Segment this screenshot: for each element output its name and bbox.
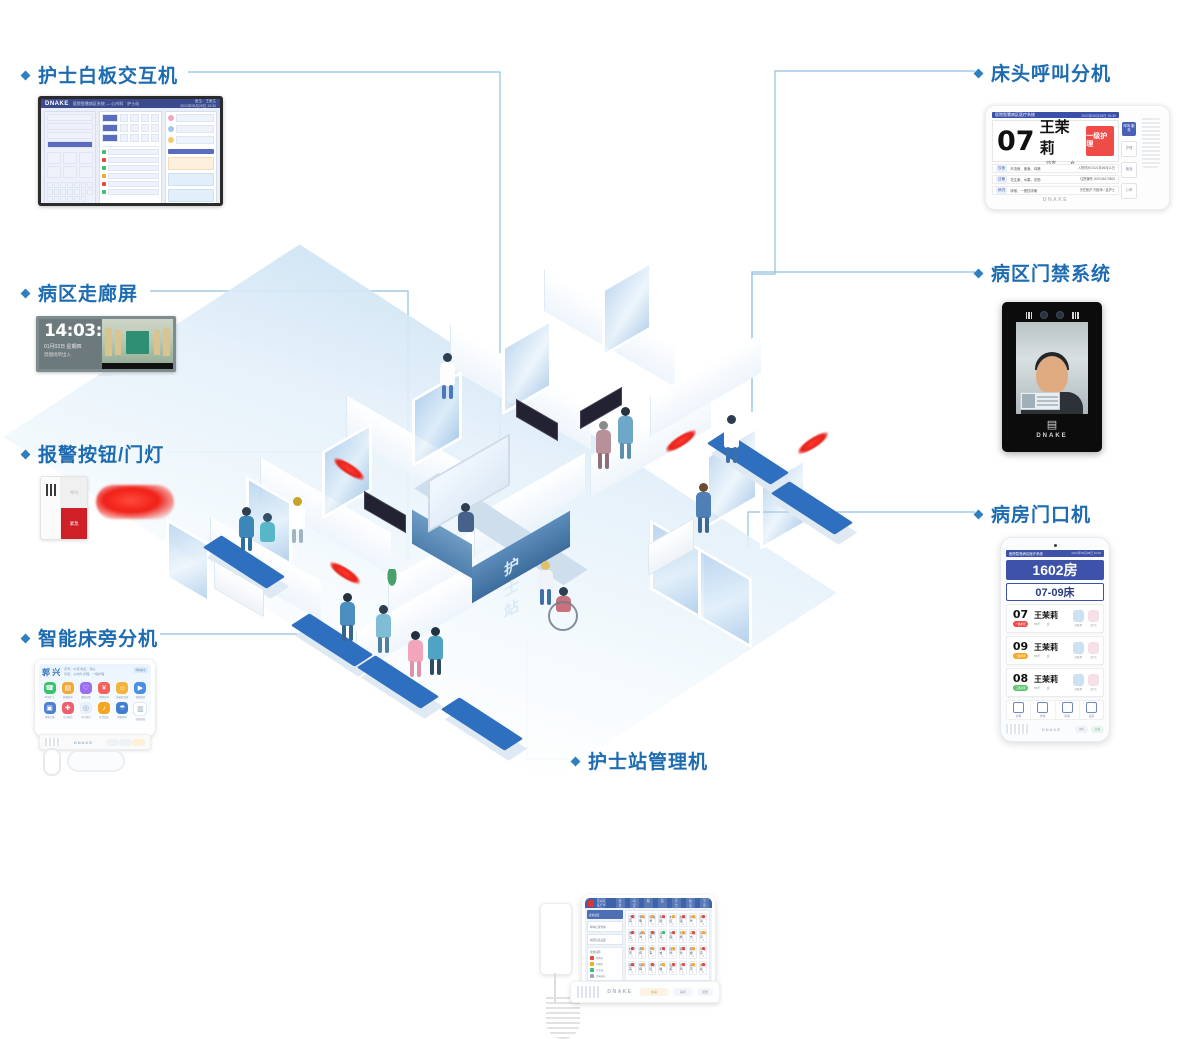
- nsm-legend-label: 呼叫中: [596, 956, 603, 960]
- bedside-app[interactable]: ☎呼叫护士: [42, 682, 57, 699]
- roomdoor-tab-care[interactable]: 护理: [1007, 701, 1031, 719]
- nsm-bed-cell[interactable]: 马俊杰15: [689, 929, 697, 943]
- roomdoor-system-title: 医院智慧病区医疗系统: [1009, 551, 1043, 556]
- nsm-bed-no: 21: [671, 956, 673, 958]
- nsm-bed-no: 25: [631, 972, 633, 974]
- bedside-app[interactable]: ▥住院须知: [133, 702, 148, 721]
- billing-icon: ¥: [98, 682, 110, 694]
- nsm-status-dot: [702, 947, 705, 950]
- bullet-diamond-icon: [974, 268, 984, 278]
- callext-side-button-infusion[interactable]: 输液: [1121, 162, 1137, 178]
- nsm-status-dot: [631, 947, 634, 950]
- nsm-status-dot: [702, 931, 705, 934]
- roomdoor-nurse-name: 王护士: [1090, 687, 1097, 691]
- bedside-header-tag: 呼叫护士: [134, 667, 148, 673]
- roomdoor-tab-label: 检查: [1040, 714, 1045, 718]
- nsm-status-dot: [662, 931, 665, 934]
- nsm-bed-no: 15: [692, 940, 694, 942]
- nsm-bed-cell[interactable]: 李伟明02: [638, 913, 646, 927]
- nsm-bed-cell[interactable]: 高明月16: [699, 929, 707, 943]
- nsm-bed-cell[interactable]: 唐振华21: [669, 945, 677, 959]
- bedside-key-highlight[interactable]: ·: [132, 739, 145, 746]
- roomdoor-care-level: 三级护理: [1013, 685, 1027, 691]
- nsm-side-beds[interactable]: 床位总览: [587, 910, 623, 919]
- nsm-bed-no: 07: [692, 924, 694, 926]
- roomdoor-doctor-name: 刘医师: [1075, 655, 1082, 659]
- device-nurse-whiteboard[interactable]: DNAKE 医院智慧病区系统 — 心内科 护士站 医生：王医生 2021年05月…: [38, 96, 223, 206]
- bedside-app[interactable]: ✚生活服务: [60, 702, 75, 721]
- isometric-ward-scene: 护士站: [150, 245, 910, 805]
- roomdoor-bed-no: 08: [1013, 673, 1028, 684]
- care-icon: [1013, 702, 1024, 713]
- nsm-bed-cell[interactable]: 王建军11: [648, 929, 656, 943]
- whiteboard-brand: DNAKE: [45, 101, 69, 107]
- bedside-app[interactable]: ▤医嘱查询: [60, 682, 75, 699]
- callout-nurse-station-manager[interactable]: 护士站管理机: [572, 747, 708, 774]
- orders-icon: [1062, 702, 1073, 713]
- nsm-legend-label: 空闲床位: [596, 974, 606, 978]
- device-alarm-button[interactable]: · 呼叫 紧急: [40, 476, 88, 540]
- nsm-bed-no: 26: [641, 972, 643, 974]
- roomdoor-tab-label: 设置: [1089, 714, 1094, 718]
- callext-extra-label: 住院编号: [1080, 177, 1093, 181]
- callext-extra-value: 2021年06月11日: [1091, 166, 1115, 170]
- roomdoor-unlock-pill[interactable]: 开锁: [1091, 726, 1104, 733]
- nsm-bed-no: 18: [641, 956, 643, 958]
- nsm-bed-cell[interactable]: 王茉莉01: [628, 913, 636, 927]
- roomdoor-nurse: 王护士: [1087, 642, 1100, 659]
- bullet-diamond-icon: [974, 509, 984, 519]
- roomdoor-tab-label: 医嘱: [1065, 714, 1070, 718]
- nsm-status-dot: [631, 931, 634, 934]
- callout-label: 智能床旁分机: [38, 624, 158, 651]
- nsm-status-dot: [702, 915, 705, 918]
- gear-icon: [1086, 702, 1097, 713]
- bedside-app[interactable]: ▶视频通话: [133, 682, 148, 699]
- nsm-bed-no: 06: [681, 924, 683, 926]
- roomdoor-bed-row[interactable]: 09 二级护理 王茉莉 15岁 女 刘医师 王护士: [1006, 636, 1104, 665]
- callout-alarm-button-door-lamp[interactable]: 报警按钮/门灯: [22, 440, 164, 467]
- corridor-video-feed: [102, 319, 173, 369]
- nsm-bed-cell[interactable]: 何丽娟14: [679, 929, 687, 943]
- roomdoor-bed-row[interactable]: 07 一级护理 王茉莉 15岁 女 刘医师 王护士: [1006, 604, 1104, 633]
- callext-extra-value: 刘医师 / 孟护士: [1093, 188, 1115, 192]
- bedside-app-label: 住院须知: [136, 717, 146, 721]
- bedside-app-label: 医嘱查询: [63, 695, 73, 699]
- roomdoor-care-level: 二级护理: [1013, 653, 1027, 659]
- callext-side-button-call[interactable]: 呼叫 服务: [1122, 122, 1136, 136]
- visit-booking-icon: ☂: [116, 702, 128, 714]
- callout-label: 护士站管理机: [588, 747, 708, 774]
- video-call-icon: ▶: [134, 682, 146, 694]
- bullet-diamond-icon: [21, 288, 31, 298]
- nsm-legend-title: 状态说明: [590, 950, 620, 954]
- nsm-bed-cell[interactable]: 吴秀兰09: [628, 929, 636, 943]
- roomdoor-bed-no: 09: [1013, 641, 1028, 652]
- callout-smart-bedside-unit[interactable]: 智能床旁分机: [22, 624, 158, 651]
- whiteboard-module: 护士站: [127, 101, 139, 107]
- bedside-app-grid: ☎呼叫护士 ▤医嘱查询 ♡健康宣教 ¥费用查询 ☺满意度调查 ▶视频通话 ▣智能…: [42, 682, 148, 721]
- nsm-bed-no: 04: [661, 924, 663, 926]
- roomdoor-tab-orders[interactable]: 医嘱: [1056, 701, 1080, 719]
- nsm-bed-no: 22: [681, 956, 683, 958]
- roomdoor-doctor-name: 刘医师: [1075, 687, 1082, 691]
- roomdoor-gender: 女: [1047, 654, 1050, 658]
- callext-extra-value: 202106272800: [1094, 177, 1115, 181]
- nsm-status-dot: [692, 915, 695, 918]
- nsm-brand: DNAKE: [607, 989, 632, 995]
- callext-extra-label: 责任医护: [1080, 188, 1093, 192]
- corridor-date: 01月03日 星期四: [44, 343, 97, 350]
- nurse-station-handset[interactable]: [540, 903, 572, 975]
- entertainment-icon: ♪: [98, 702, 110, 714]
- nsm-bed-cell[interactable]: 林芳芳17: [628, 945, 636, 959]
- nsm-legend-label: 已完成: [596, 968, 603, 972]
- bedside-app[interactable]: ☺满意度调查: [115, 682, 130, 699]
- nsm-side-call-log[interactable]: 呼叫记录查询: [587, 921, 623, 932]
- nsm-bed-cell[interactable]: 冯晓燕12: [658, 929, 666, 943]
- alarm-emergency-button[interactable]: 紧急: [61, 508, 87, 539]
- callext-bed-no: 07: [997, 128, 1035, 155]
- card-swipe-icon: ▤: [1047, 420, 1057, 431]
- nsm-key-handsfree[interactable]: 免提: [639, 988, 669, 996]
- callext-row-tag: 病况: [996, 187, 1007, 194]
- nsm-key-hangup[interactable]: 挂断: [697, 988, 713, 996]
- bedside-app[interactable]: ☂探视预约: [115, 702, 130, 721]
- roomdoor-mic-grille-icon: [1006, 724, 1028, 734]
- roomdoor-age: 15岁: [1034, 654, 1040, 658]
- nsm-title-1: 医院智慧病区: [597, 895, 606, 903]
- roomdoor-room-number: 1602房: [1006, 560, 1104, 580]
- callext-care-level: 一级护理: [1086, 126, 1114, 156]
- alarm-vent-icon: [46, 484, 56, 496]
- nsm-bed-no: 31: [692, 972, 694, 974]
- roomdoor-nurse-name: 王护士: [1090, 655, 1097, 659]
- bedside-mic-grille-icon: [45, 738, 61, 746]
- notice-icon: ▥: [133, 702, 147, 716]
- bedside-app[interactable]: ▣智能点餐: [42, 702, 57, 721]
- nsm-status-dot: [631, 963, 634, 966]
- face-recognition-preview: [1016, 322, 1088, 414]
- callext-row-tag: 饮食: [996, 165, 1007, 172]
- nsm-status-dot: [682, 931, 685, 934]
- device-door-lamp: [96, 485, 174, 519]
- nsm-bed-cell[interactable]: 张雅琴03: [648, 913, 656, 927]
- nsm-bed-cell[interactable]: 韩美玲22: [679, 945, 687, 959]
- callout-label: 病区走廊屏: [38, 279, 138, 306]
- roomdoor-tab-exam[interactable]: 检查: [1031, 701, 1055, 719]
- nsm-bed-cell[interactable]: 周文涛08: [699, 913, 707, 927]
- bullet-diamond-icon: [21, 70, 31, 80]
- nsm-key-mute[interactable]: 静音: [673, 988, 693, 996]
- bedside-stand: [67, 750, 125, 772]
- bedside-key[interactable]: ·: [106, 739, 119, 746]
- bedside-app-label: 生活服务: [63, 715, 73, 719]
- bedside-greeting: 郭 兴: [42, 667, 60, 678]
- nsm-status-dot: [641, 947, 644, 950]
- roomdoor-nurse: 王护士: [1087, 610, 1100, 627]
- nsm-bed-no: 12: [661, 940, 663, 942]
- nsm-bed-cell[interactable]: 邓淑芬24: [699, 945, 707, 959]
- callext-row-value: 咳嗽、一般性咳嗽: [1010, 188, 1037, 193]
- corridor-brand: DNAKE: [36, 373, 176, 377]
- roomdoor-bed-range: 07-09床: [1006, 583, 1104, 601]
- bullet-diamond-icon: [571, 756, 581, 766]
- exam-icon: [1037, 702, 1048, 713]
- nsm-bed-cell[interactable]: 陈建国04: [658, 913, 666, 927]
- roomdoor-care-level: 一级护理: [1013, 621, 1027, 627]
- bedside-app-label: 智能点餐: [45, 715, 55, 719]
- bedside-key[interactable]: ·: [119, 739, 132, 746]
- roomdoor-patient-name: 王茉莉: [1034, 610, 1058, 621]
- nsm-status-dot: [702, 963, 705, 966]
- roomdoor-gender: 女: [1047, 686, 1050, 690]
- nsm-bed-grid: 王茉莉01李伟明02张雅琴03陈建国04刘小红05赵国强06孙丽华07周文涛08…: [625, 910, 710, 981]
- nsm-status-dot: [682, 947, 685, 950]
- callext-info-row: 病况 咳嗽、一般性咳嗽 责任医护 刘医师 / 孟护士: [992, 186, 1119, 195]
- bedside-meta-2: 科室：心内科 护理：一级护理: [64, 672, 104, 676]
- nsm-status-dot: [672, 931, 675, 934]
- education-icon: ♡: [80, 682, 92, 694]
- nsm-bed-no: 29: [671, 972, 673, 974]
- nsm-status-dot: [692, 947, 695, 950]
- nsm-bed-cell[interactable]: 许志强13: [669, 929, 677, 943]
- nsm-bed-cell[interactable]: 孙丽华07: [689, 913, 697, 927]
- roomdoor-age: 15岁: [1034, 686, 1040, 690]
- nsm-status-dot: [692, 963, 695, 966]
- nsm-bed-cell[interactable]: 彭国栋29: [669, 961, 677, 975]
- camera-lens-icon: [1056, 311, 1064, 319]
- nsm-status-dot: [682, 963, 685, 966]
- ir-emitter-icon: [1026, 312, 1033, 319]
- nsm-status-dot: [672, 947, 675, 950]
- nsm-bed-no: 09: [631, 940, 633, 942]
- callext-brand: DNAKE: [992, 197, 1119, 203]
- nsm-bed-cell[interactable]: 赵国强06: [679, 913, 687, 927]
- orders-icon: ▤: [62, 682, 74, 694]
- nsm-bed-cell[interactable]: 范志远27: [648, 961, 656, 975]
- roomdoor-brand: DNAKE: [1042, 727, 1061, 732]
- nsm-bed-no: 10: [641, 940, 643, 942]
- device-smart-bedside-unit[interactable]: 郭 兴 床号：07床 姓名：郭兴 科室：心内科 护理：一级护理 呼叫护士 ☎呼叫…: [35, 660, 155, 770]
- callout-label: 报警按钮/门灯: [38, 440, 164, 467]
- nsm-bed-cell[interactable]: 姜小凤30: [679, 961, 687, 975]
- nsm-bed-no: 14: [681, 940, 683, 942]
- nsm-bed-cell[interactable]: 秦天宇31: [689, 961, 697, 975]
- nsm-status-dot: [641, 963, 644, 966]
- device-bedhead-call-extension[interactable]: 医院智慧病区医疗系统 2021年06月28日 15:30 07 王茉莉 15岁 …: [985, 105, 1170, 210]
- callext-side-button-heartrate[interactable]: 心率: [1121, 183, 1137, 199]
- roomdoor-tab-bar: 护理 检查 医嘱 设置: [1006, 700, 1104, 720]
- callout-ward-access-control[interactable]: 病区门禁系统: [975, 259, 1111, 286]
- potted-plant: [384, 569, 400, 593]
- whiteboard-system-title: 医院智慧病区系统 — 心内科: [73, 101, 123, 107]
- roomdoor-bed-no: 07: [1013, 609, 1028, 620]
- nsm-side-ward-config[interactable]: 病区信息设置: [587, 934, 623, 945]
- bedside-app[interactable]: ¥费用查询: [97, 682, 112, 699]
- nsm-status-dot: [641, 931, 644, 934]
- nsm-status-dot: [682, 915, 685, 918]
- roomdoor-age: 15岁: [1034, 622, 1040, 626]
- callext-info-row: 饮食 半流食、素食、鸡蛋 入院时间 2021年06月11日: [992, 164, 1119, 173]
- nsm-bed-no: 17: [631, 956, 633, 958]
- bedside-brand: DNAKE: [74, 740, 93, 745]
- roomdoor-doctor: 刘医师: [1072, 610, 1085, 627]
- nsm-bed-cell[interactable]: 薛亮亮25: [628, 961, 636, 975]
- nurse-station-sign: 护士站: [504, 550, 522, 623]
- bedside-app-label: 费用查询: [99, 695, 109, 699]
- roomdoor-nurse: 王护士: [1087, 674, 1100, 691]
- bedside-meta-1: 床号：07床 姓名：郭兴: [64, 667, 95, 671]
- callext-speaker-grille-icon: [1142, 116, 1160, 168]
- wheelchair-wheel: [548, 601, 578, 631]
- callext-patient-name: 王茉莉: [1040, 116, 1082, 158]
- callext-system-title: 医院智慧病区医疗系统: [995, 112, 1035, 118]
- nsm-logo-icon: [588, 900, 594, 907]
- alarm-call-button[interactable]: 呼叫: [61, 477, 87, 508]
- callout-label: 床头呼叫分机: [991, 59, 1111, 86]
- alarm-indicator-icon: ·: [50, 505, 52, 511]
- nsm-status-dot: [631, 915, 634, 918]
- callout-label: 病区门禁系统: [991, 259, 1111, 286]
- bedside-app-label: 呼叫护士: [45, 695, 55, 699]
- nsm-bed-no: 20: [661, 956, 663, 958]
- nsm-status-dot: [692, 931, 695, 934]
- nsm-status-dot: [672, 915, 675, 918]
- corridor-subtitle: 禁烟场所出入: [44, 352, 97, 358]
- nsm-bed-cell[interactable]: 宋佳怡20: [658, 945, 666, 959]
- device-room-door-station[interactable]: 医院智慧病区医疗系统 2021年06月28日 16:30 1602房 07-09…: [1000, 537, 1110, 742]
- roomdoor-doctor: 刘医师: [1072, 674, 1085, 691]
- camera-lens-icon: [1040, 311, 1048, 319]
- emr-icon: ◎: [80, 702, 92, 714]
- nsm-bed-no: 11: [651, 940, 653, 942]
- callext-extra-label: 入院时间: [1078, 166, 1091, 170]
- nsm-bed-no: 01: [631, 924, 633, 926]
- nsm-legend-label: 护理中: [596, 962, 603, 966]
- bedside-app-label: 探视预约: [117, 715, 127, 719]
- bedside-app[interactable]: ◎电子病历: [78, 702, 93, 721]
- access-brand: DNAKE: [1036, 433, 1067, 439]
- whiteboard-corner-top: 医生：王医生: [195, 99, 216, 103]
- nsm-bed-cell[interactable]: 黄大伟18: [638, 945, 646, 959]
- camera-icon: [1054, 544, 1057, 547]
- callout-ward-corridor-screen[interactable]: 病区走廊屏: [22, 279, 138, 306]
- callout-bedhead-call-extension[interactable]: 床头呼叫分机: [975, 59, 1111, 86]
- device-nurse-station-manager[interactable]: 医院智慧病区 医疗呼叫系统 床位总览 呼叫记录 医嘱 排班 统计分析 系统设置 …: [540, 895, 715, 1015]
- whiteboard-corner-sub: 2021年05月28日 15:30: [180, 104, 216, 108]
- roomdoor-call-pill[interactable]: 呼叫: [1075, 726, 1088, 733]
- roomdoor-nurse-name: 王护士: [1090, 623, 1097, 627]
- bedside-app-label: 健康宣教: [81, 695, 91, 699]
- roomdoor-bed-row[interactable]: 08 三级护理 王茉莉 15岁 女 刘医师 王护士: [1006, 668, 1104, 697]
- callout-label: 病房门口机: [991, 500, 1091, 527]
- bedside-handset[interactable]: [43, 748, 61, 776]
- door-lamp: [798, 428, 828, 457]
- roomdoor-doctor: 刘医师: [1072, 642, 1085, 659]
- nsm-bed-cell[interactable]: 谢婉如32: [699, 961, 707, 975]
- nsm-mic-grille-icon: [577, 986, 601, 998]
- nsm-bed-no: 03: [651, 924, 653, 926]
- nsm-status-dot: [672, 963, 675, 966]
- bullet-diamond-icon: [21, 633, 31, 643]
- nsm-status-dot: [641, 915, 644, 918]
- nsm-bed-cell[interactable]: 卢敏敏28: [658, 961, 666, 975]
- nsm-bed-cell[interactable]: 郑海洋10: [638, 929, 646, 943]
- roomdoor-patient-name: 王茉莉: [1034, 674, 1058, 685]
- callext-row-tag: 过敏: [996, 176, 1007, 183]
- bedside-app-label: 电子病历: [81, 715, 91, 719]
- recognized-id-card: [1020, 392, 1060, 410]
- roomdoor-patient-name: 王茉莉: [1034, 642, 1058, 653]
- survey-icon: ☺: [116, 682, 128, 694]
- nsm-bed-no: 16: [702, 940, 704, 942]
- callext-row-value: 花生素、水果、花粉: [1010, 177, 1041, 182]
- roomdoor-doctor-name: 刘医师: [1075, 623, 1082, 627]
- callext-datetime: 2021年06月28日 15:30: [1081, 113, 1116, 118]
- nsm-bed-no: 24: [702, 956, 704, 958]
- nsm-bed-no: 30: [681, 972, 683, 974]
- device-ward-access-control[interactable]: ▤ DNAKE: [1002, 302, 1102, 452]
- corridor-time: 14:03:23: [44, 323, 97, 340]
- ir-emitter-icon: [1072, 312, 1079, 319]
- nsm-status-dot: [662, 963, 665, 966]
- id-photo: [1022, 394, 1035, 408]
- nsm-bed-no: 13: [671, 940, 673, 942]
- bedside-app[interactable]: ♪影音娱乐: [97, 702, 112, 721]
- nsm-bed-no: 08: [702, 924, 704, 926]
- nsm-bed-no: 23: [692, 956, 694, 958]
- nsm-bed-cell[interactable]: 程雪梅26: [638, 961, 646, 975]
- bedside-app-label: 满意度调查: [116, 695, 128, 699]
- nsm-bed-no: 28: [661, 972, 663, 974]
- roomdoor-datetime: 2021年06月28日 16:30: [1071, 551, 1101, 555]
- callext-row-value: 半流食、素食、鸡蛋: [1010, 166, 1041, 171]
- meal-order-icon: ▣: [44, 702, 56, 714]
- callout-label: 护士白板交互机: [38, 61, 178, 88]
- device-corridor-screen[interactable]: 14:03:23 01月03日 星期四 禁烟场所出入 DNAKE: [36, 316, 176, 377]
- nsm-status-dot: [662, 947, 665, 950]
- nsm-bed-no: 32: [702, 972, 704, 974]
- nsm-legend: 状态说明 呼叫中 护理中 已完成 空闲床位: [587, 947, 623, 981]
- diagram-canvas: 护士站: [0, 0, 1200, 967]
- callext-info-row: 过敏 花生素、水果、花粉 住院编号 202106272800: [992, 175, 1119, 184]
- bullet-diamond-icon: [974, 68, 984, 78]
- life-service-icon: ✚: [62, 702, 74, 714]
- roomdoor-tab-label: 护理: [1016, 714, 1021, 718]
- nsm-bed-cell[interactable]: 刘小红05: [669, 913, 677, 927]
- bullet-diamond-icon: [21, 449, 31, 459]
- callout-nurse-whiteboard[interactable]: 护士白板交互机: [22, 61, 178, 88]
- nsm-bed-no: 27: [651, 972, 653, 974]
- nsm-bed-no: 02: [641, 924, 643, 926]
- nsm-bed-no: 05: [671, 924, 673, 926]
- callout-room-door-station[interactable]: 病房门口机: [975, 500, 1091, 527]
- bedside-app-label: 视频通话: [136, 695, 146, 699]
- nsm-bed-cell[interactable]: 曹文斌23: [689, 945, 697, 959]
- call-nurse-icon: ☎: [44, 682, 56, 694]
- roomdoor-gender: 女: [1047, 622, 1050, 626]
- bedside-app[interactable]: ♡健康宣教: [78, 682, 93, 699]
- nsm-bed-no: 19: [651, 956, 653, 958]
- bedside-app-label: 影音娱乐: [99, 715, 109, 719]
- roomdoor-tab-settings[interactable]: 设置: [1080, 701, 1103, 719]
- callext-side-button-care[interactable]: 护理: [1121, 141, 1137, 157]
- nsm-bed-cell[interactable]: 罗小军19: [648, 945, 656, 959]
- nsm-status-dot: [662, 915, 665, 918]
